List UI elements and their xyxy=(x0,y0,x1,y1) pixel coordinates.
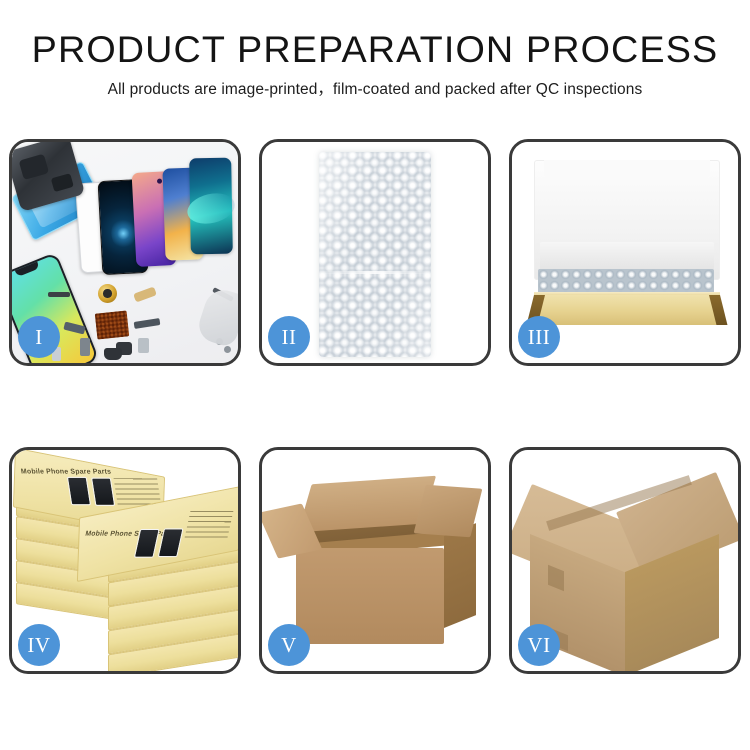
process-step-panel-2: II xyxy=(259,139,491,366)
step-badge-2: II xyxy=(268,316,310,358)
screw-part xyxy=(224,346,231,353)
step-badge-5: V xyxy=(268,624,310,666)
carton-front-face xyxy=(296,548,444,644)
spare-part xyxy=(48,292,70,297)
step-badge-6: VI xyxy=(518,624,560,666)
teal-wave-phone xyxy=(189,158,233,255)
speaker-coil-part xyxy=(98,284,117,303)
step-badge-1: I xyxy=(18,316,60,358)
process-step-panel-5: V xyxy=(259,447,491,674)
process-step-grid: I II xyxy=(9,139,741,674)
box-artwork-phone-image xyxy=(91,478,115,506)
bubble-wrapped-item xyxy=(319,152,431,357)
plastic-sheen xyxy=(319,152,431,357)
process-step-panel-6: VI xyxy=(509,447,741,674)
carton-flap-right xyxy=(414,485,483,537)
spare-part xyxy=(138,338,149,353)
spare-part xyxy=(80,338,90,356)
kraft-box-front xyxy=(534,295,720,325)
step-badge-4: IV xyxy=(18,624,60,666)
step-badge-3: III xyxy=(518,316,560,358)
box-artwork-phone-image xyxy=(67,477,91,505)
box-artwork-text-block xyxy=(185,511,234,538)
retail-box-print-label: Mobile Phone Spare Parts xyxy=(21,468,112,475)
product-preparation-page: PRODUCT PREPARATION PROCESS All products… xyxy=(0,0,750,750)
page-title: PRODUCT PREPARATION PROCESS xyxy=(0,28,750,72)
process-step-panel-3: III xyxy=(509,139,741,366)
perforated-board-part xyxy=(95,310,130,339)
process-step-panel-1: I xyxy=(9,139,241,366)
carton-side-face xyxy=(444,523,476,628)
spare-part xyxy=(104,348,122,360)
box-artwork-text-block xyxy=(114,478,162,504)
page-subtitle: All products are image-printed，film-coat… xyxy=(0,80,750,100)
page-header: PRODUCT PREPARATION PROCESS All products… xyxy=(0,28,750,100)
foam-liner xyxy=(540,242,714,270)
process-step-panel-4: Mobile Phone Spare Parts Mobile Phone Sp… xyxy=(9,447,241,674)
